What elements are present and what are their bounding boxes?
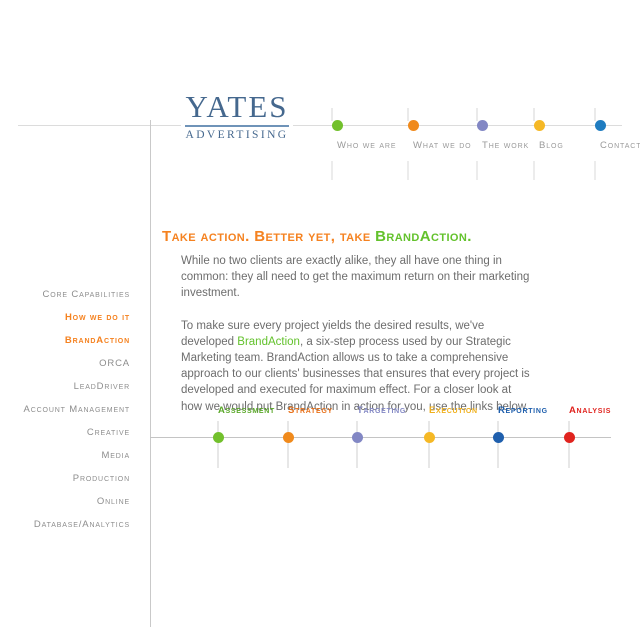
sidebar-item-label: Production bbox=[73, 473, 130, 484]
sidebar-item-production[interactable]: Production bbox=[0, 467, 140, 490]
nav-dot-icon bbox=[477, 120, 488, 131]
nav-dot-icon bbox=[408, 120, 419, 131]
sidebar-item-label: Media bbox=[101, 450, 130, 461]
sidebar-item-orca[interactable]: ORCA bbox=[0, 352, 140, 375]
nav-tick-bottom bbox=[533, 161, 534, 180]
nav-tick-top bbox=[476, 108, 477, 121]
sidebar-item-label: How we do it bbox=[65, 312, 130, 323]
step-dot-icon bbox=[352, 432, 363, 443]
step-dot-icon bbox=[564, 432, 575, 443]
process-timeline: AssessmentStrategyTargetingExecutionRepo… bbox=[150, 405, 611, 475]
sidebar-item-label: Account Management bbox=[24, 404, 130, 415]
nav-tick-bottom bbox=[594, 161, 595, 180]
step-dot-icon bbox=[424, 432, 435, 443]
nav-tick-bottom bbox=[476, 161, 477, 180]
sidebar-item-core-capabilities[interactable]: Core Capabilities bbox=[0, 283, 140, 306]
sidebar-item-account-management[interactable]: Account Management bbox=[0, 398, 140, 421]
sidebar-item-media[interactable]: Media bbox=[0, 444, 140, 467]
site-logo[interactable]: YATES ADVERTISING bbox=[181, 90, 293, 141]
headline-brand: BrandAction. bbox=[375, 228, 472, 245]
paragraph-intro: While no two clients are exactly alike, … bbox=[181, 253, 531, 302]
sidebar-item-brandaction[interactable]: BrandAction bbox=[0, 329, 140, 352]
sidebar-item-online[interactable]: Online bbox=[0, 490, 140, 513]
sidebar-item-label: BrandAction bbox=[65, 335, 130, 346]
paragraph-process: To make sure every project yields the de… bbox=[181, 318, 531, 415]
logo-rule bbox=[185, 125, 289, 127]
sidebar-item-leaddriver[interactable]: LeadDriver bbox=[0, 375, 140, 398]
nav-dot-icon bbox=[332, 120, 343, 131]
sidebar-item-database-analytics[interactable]: Database/Analytics bbox=[0, 513, 140, 536]
nav-dot-icon bbox=[595, 120, 606, 131]
logo-tagline: ADVERTISING bbox=[185, 129, 289, 141]
headline-text: Take action. Better yet, take bbox=[162, 228, 375, 245]
page-headline: Take action. Better yet, take BrandActio… bbox=[162, 228, 472, 245]
sidebar-item-label: Core Capabilities bbox=[43, 289, 130, 300]
nav-dot-icon bbox=[534, 120, 545, 131]
sidebar-divider bbox=[150, 120, 151, 627]
sidebar-item-creative[interactable]: Creative bbox=[0, 421, 140, 444]
page-root: YATES ADVERTISING Who we areWhat we doTh… bbox=[0, 0, 640, 627]
sidebar-item-label: Database/Analytics bbox=[34, 519, 130, 530]
step-dot-icon bbox=[493, 432, 504, 443]
nav-tick-top bbox=[594, 108, 595, 121]
nav-tick-top bbox=[533, 108, 534, 121]
top-navigation: Who we areWhat we doThe workBlogContact … bbox=[300, 108, 630, 188]
logo-wordmark: YATES bbox=[185, 90, 289, 124]
brandaction-link[interactable]: BrandAction bbox=[237, 336, 300, 348]
sidebar-navigation: Core CapabilitiesHow we do itBrandAction… bbox=[0, 283, 140, 536]
sidebar-item-label: Online bbox=[97, 496, 130, 507]
step-dot-icon bbox=[283, 432, 294, 443]
nav-tick-bottom bbox=[407, 161, 408, 180]
nav-tick-top bbox=[331, 108, 332, 121]
sidebar-item-label: LeadDriver bbox=[74, 381, 130, 392]
nav-tick-top bbox=[407, 108, 408, 121]
step-dot-icon bbox=[213, 432, 224, 443]
nav-tick-bottom bbox=[331, 161, 332, 180]
sidebar-item-label: ORCA bbox=[99, 358, 130, 369]
sidebar-item-how-we-do-it[interactable]: How we do it bbox=[0, 306, 140, 329]
sidebar-item-label: Creative bbox=[87, 427, 130, 438]
